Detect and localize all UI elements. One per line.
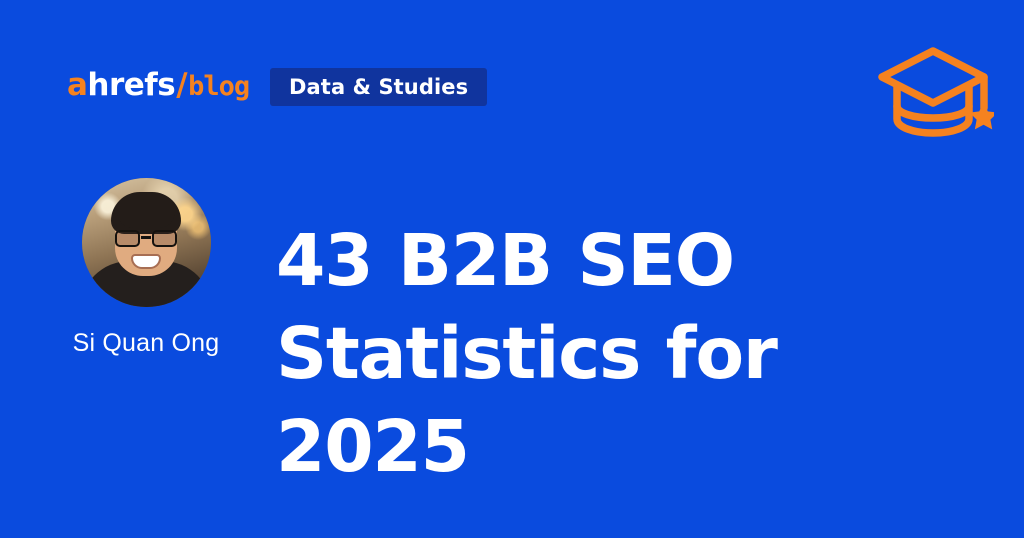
graduation-cap-icon xyxy=(872,44,994,140)
avatar-photo xyxy=(82,178,211,307)
avatar xyxy=(82,178,211,307)
header: ahrefs/blog Data & Studies xyxy=(0,0,1024,150)
logo-word-hrefs: hrefs xyxy=(87,67,175,103)
avatar-lens-right xyxy=(152,230,177,247)
page-title: 43 B2B SEO Statistics for 2025 xyxy=(276,214,916,493)
avatar-hair xyxy=(111,192,181,234)
avatar-glasses xyxy=(114,230,178,247)
logo-letter-a: a xyxy=(67,67,87,103)
category-badge[interactable]: Data & Studies xyxy=(270,68,487,106)
category-badge-label: Data & Studies xyxy=(289,75,468,99)
blog-cover-card: ahrefs/blog Data & Studies xyxy=(0,0,1024,538)
avatar-glasses-bridge xyxy=(141,236,151,239)
author-block: Si Quan Ong xyxy=(40,178,252,358)
avatar-smile xyxy=(133,256,159,267)
logo-slash: / xyxy=(175,67,188,103)
brand-logo[interactable]: ahrefs/blog xyxy=(67,68,249,104)
avatar-lens-left xyxy=(115,230,140,247)
author-name: Si Quan Ong xyxy=(73,329,220,358)
logo-word-blog: blog xyxy=(188,71,249,102)
